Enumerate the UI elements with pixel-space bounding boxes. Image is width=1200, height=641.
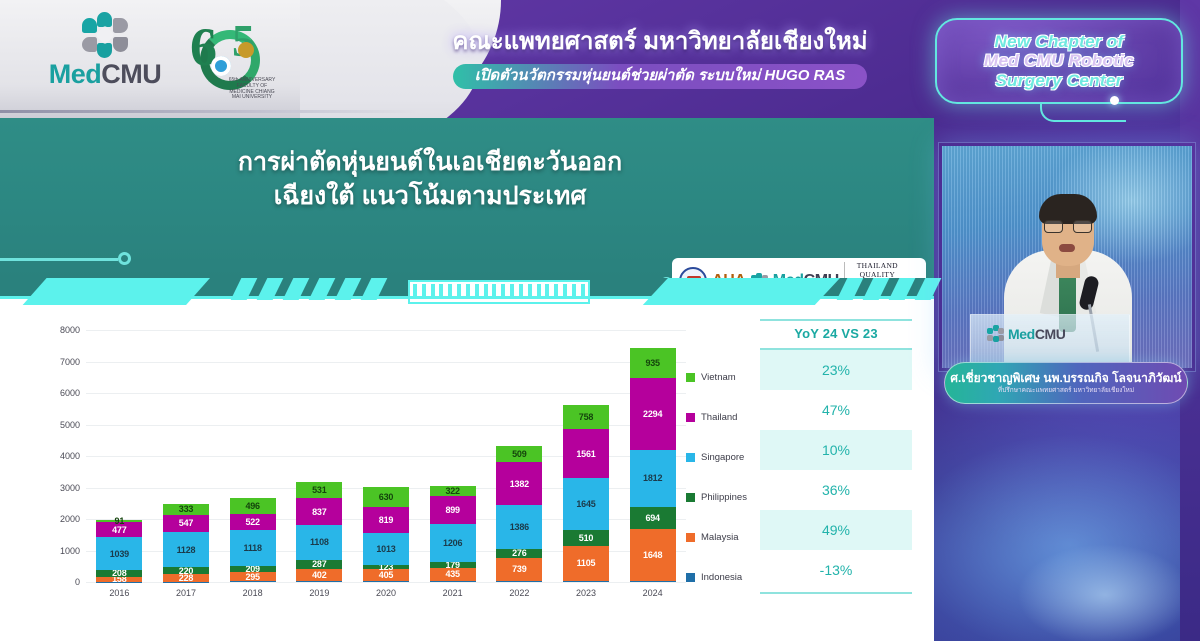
- chart-bar-2018: 2952091118522496: [230, 498, 276, 582]
- anniversary-caption: 65th ANNIVERSARY FACULTY OF MEDICINE CHI…: [226, 78, 278, 101]
- yoy-row-vietnam: 23%: [760, 350, 912, 390]
- bar-segment-vietnam: 496: [230, 498, 276, 514]
- x-axis-tick-label: 2018: [230, 588, 276, 598]
- medcmu-flower-icon: [82, 12, 128, 58]
- bar-segment-malaysia: 1105: [563, 546, 609, 581]
- x-axis-tick-label: 2021: [430, 588, 476, 598]
- legend-label: Indonesia: [701, 572, 742, 583]
- bar-segment-philippines: 208: [96, 570, 142, 577]
- x-axis-tick-label: 2017: [163, 588, 209, 598]
- bar-segment-malaysia: 402: [296, 569, 342, 582]
- bar-value-label: 1128: [177, 545, 196, 555]
- bar-value-label: 333: [179, 504, 193, 514]
- bar-segment-philippines: 510: [563, 530, 609, 546]
- bar-segment-malaysia: 739: [496, 558, 542, 581]
- bar-value-label: 477: [112, 525, 126, 535]
- bar-segment-philippines: 276: [496, 549, 542, 558]
- speaker-name: ศ.เชี่ยวชาญพิเศษ นพ.บรรณกิจ โลจนาภิวัฒน์: [950, 372, 1181, 385]
- podium-flower-icon: [987, 325, 1004, 342]
- bar-segment-singapore: 1206: [430, 524, 476, 562]
- bar-value-label: 1206: [443, 538, 462, 548]
- bar-segment-indonesia: [496, 581, 542, 582]
- x-axis-tick-label: 2020: [363, 588, 409, 598]
- yoy-row-thailand: 47%: [760, 390, 912, 430]
- bar-value-label: 1382: [510, 479, 529, 489]
- bar-segment-thailand: 837: [296, 498, 342, 524]
- chart-bar-2016: 158208103947791: [96, 520, 142, 582]
- bar-value-label: 837: [312, 507, 326, 517]
- legend-label: Thailand: [701, 412, 737, 423]
- y-axis-tick-label: 5000: [32, 420, 80, 430]
- x-axis-tick-label: 2019: [296, 588, 342, 598]
- bar-value-label: 510: [579, 533, 593, 543]
- bar-value-label: 1645: [576, 499, 595, 509]
- bar-segment-singapore: 1812: [630, 450, 676, 507]
- bar-segment-singapore: 1128: [163, 532, 209, 568]
- slide-stage: MedCMU 6 5 65th ANNIVERSARY FACULTY OF M…: [0, 0, 1200, 641]
- legend-label: Philippines: [701, 492, 747, 503]
- bar-segment-thailand: 819: [363, 507, 409, 533]
- bar-segment-philippines: 694: [630, 507, 676, 529]
- header-subtitle-pill: เปิดตัวนวัตกรรมหุ่นยนต์ช่วยผ่าตัด ระบบให…: [453, 64, 868, 89]
- bar-segment-thailand: 547: [163, 515, 209, 532]
- legend-item-indonesia[interactable]: Indonesia: [686, 557, 766, 597]
- badge-connector-dot-icon: [1110, 96, 1119, 105]
- badge-connector-line: [1040, 102, 1126, 122]
- bar-segment-philippines: 287: [296, 560, 342, 569]
- bar-value-label: 547: [179, 518, 193, 528]
- medcmu-word-cmu: CMU: [101, 59, 161, 89]
- bar-value-label: 496: [245, 501, 259, 511]
- strip-cyan-left: [20, 278, 210, 308]
- bar-value-label: 522: [245, 517, 259, 527]
- bar-value-label: 2294: [643, 409, 662, 419]
- slide-content: 0100020003000400050006000700080001582081…: [0, 305, 934, 641]
- y-axis-tick-label: 2000: [32, 514, 80, 524]
- bar-value-label: 322: [445, 486, 459, 496]
- bar-value-label: 276: [512, 548, 526, 558]
- header-divider: [0, 110, 420, 113]
- x-axis-tick-label: 2023: [563, 588, 609, 598]
- yoy-row-indonesia: -13%: [760, 550, 912, 590]
- yoy-row-singapore: 10%: [760, 430, 912, 470]
- bar-segment-vietnam: 333: [163, 504, 209, 514]
- x-axis-tick-label: 2016: [96, 588, 142, 598]
- header-title-main: คณะแพทยศาสตร์ มหาวิทยาลัยเชียงใหม่: [400, 28, 920, 56]
- bar-segment-philippines: 209: [230, 566, 276, 573]
- bar-segment-thailand: 2294: [630, 378, 676, 450]
- bar-segment-singapore: 1118: [230, 530, 276, 565]
- speaker-nameplate: ศ.เชี่ยวชาญพิเศษ นพ.บรรณกิจ โลจนาภิวัฒน์…: [944, 362, 1188, 404]
- yoy-row-malaysia: 49%: [760, 510, 912, 550]
- speaker-mouth: [1059, 244, 1075, 252]
- anniversary-flower-icon: [211, 56, 231, 76]
- section-title: การผ่าตัดหุ่นยนต์ในเอเชียตะวันออก เฉียงใ…: [190, 146, 670, 214]
- y-axis-tick-label: 3000: [32, 483, 80, 493]
- podium-word-cmu: CMU: [1035, 326, 1066, 342]
- bar-segment-indonesia: [563, 581, 609, 582]
- strip-cyan-right: [640, 278, 840, 308]
- chart-gridline: [86, 362, 686, 363]
- section-title-line1: การผ่าตัดหุ่นยนต์ในเอเชียตะวันออก: [190, 146, 670, 180]
- bar-segment-indonesia: [430, 581, 476, 582]
- bar-value-label: 287: [312, 559, 326, 569]
- chart-bar-2017: 2282201128547333: [163, 504, 209, 582]
- x-axis-tick-label: 2024: [630, 588, 676, 598]
- chart-legend: VietnamThailandSingaporePhilippinesMalay…: [686, 357, 766, 597]
- legend-item-philippines[interactable]: Philippines: [686, 477, 766, 517]
- chart-bar-2024: 164869418122294935: [630, 348, 676, 582]
- yoy-table: YoY 24 VS 23 23%47%10%36%49%-13%: [760, 319, 912, 594]
- y-axis-tick-label: 1000: [32, 546, 80, 556]
- bar-value-label: 694: [645, 513, 659, 523]
- y-axis-tick-label: 7000: [32, 357, 80, 367]
- bar-segment-thailand: 522: [230, 514, 276, 530]
- speaker-affiliation: ที่ปรึกษาคณะแพทยศาสตร์ มหาวิทยาลัยเชียงใ…: [998, 387, 1134, 395]
- bar-segment-vietnam: 630: [363, 487, 409, 507]
- chart-bar-2021: 4351791206899322: [430, 486, 476, 583]
- legend-swatch-icon: [686, 493, 695, 502]
- legend-item-malaysia[interactable]: Malaysia: [686, 517, 766, 557]
- legend-item-thailand[interactable]: Thailand: [686, 397, 766, 437]
- legend-label: Malaysia: [701, 532, 739, 543]
- legend-swatch-icon: [686, 453, 695, 462]
- y-axis-tick-label: 4000: [32, 451, 80, 461]
- legend-item-singapore[interactable]: Singapore: [686, 437, 766, 477]
- legend-label: Singapore: [701, 452, 744, 463]
- header-title-block: คณะแพทยศาสตร์ มหาวิทยาลัยเชียงใหม่ เปิดต…: [400, 28, 920, 89]
- legend-swatch-icon: [686, 373, 695, 382]
- bar-value-label: 1812: [643, 473, 662, 483]
- legend-swatch-icon: [686, 413, 695, 422]
- bar-value-label: 1648: [643, 550, 662, 560]
- stacked-bar-chart: 0100020003000400050006000700080001582081…: [20, 320, 690, 620]
- bar-value-label: 1386: [510, 522, 529, 532]
- bar-segment-vietnam: 531: [296, 482, 342, 499]
- chart-bar-2020: 4051231013819630: [363, 487, 409, 582]
- bar-value-label: 739: [512, 564, 526, 574]
- podium: MedCMU: [970, 314, 1130, 368]
- bar-segment-singapore: 1645: [563, 478, 609, 530]
- bar-segment-thailand: 1561: [563, 429, 609, 478]
- bar-value-label: 899: [445, 505, 459, 515]
- y-axis-tick-label: 0: [32, 577, 80, 587]
- chart-gridline: [86, 582, 686, 583]
- bar-segment-indonesia: [363, 581, 409, 582]
- legend-label: Vietnam: [701, 372, 736, 383]
- bar-segment-vietnam: 935: [630, 348, 676, 377]
- bar-segment-indonesia: [630, 581, 676, 582]
- bar-segment-thailand: 1382: [496, 462, 542, 506]
- bar-segment-vietnam: 509: [496, 446, 542, 462]
- y-axis-tick-label: 8000: [32, 325, 80, 335]
- x-axis-tick-label: 2022: [496, 588, 542, 598]
- medcmu-wordmark: MedCMU: [30, 61, 180, 88]
- badge-line-2: Med CMU Robotic: [984, 51, 1134, 70]
- bar-value-label: 819: [379, 515, 393, 525]
- bar-segment-philippines: 179: [430, 562, 476, 568]
- bar-segment-singapore: 1108: [296, 525, 342, 560]
- bar-value-label: 1105: [577, 558, 596, 568]
- chart-bar-2022: 73927613861382509: [496, 446, 542, 582]
- bar-value-label: 402: [312, 570, 326, 580]
- bar-value-label: 1039: [110, 549, 129, 559]
- bar-value-label: 435: [445, 569, 459, 579]
- legend-item-vietnam[interactable]: Vietnam: [686, 357, 766, 397]
- bar-value-label: 1013: [376, 544, 395, 554]
- page-header: MedCMU 6 5 65th ANNIVERSARY FACULTY OF M…: [0, 0, 1200, 118]
- medcmu-logo: MedCMU: [30, 12, 180, 100]
- chart-plot-area: 0100020003000400050006000700080001582081…: [86, 330, 686, 582]
- bar-segment-philippines: 220: [163, 567, 209, 574]
- y-axis-tick-label: 6000: [32, 388, 80, 398]
- bar-value-label: 91: [115, 516, 125, 526]
- anniversary-seal-icon: [238, 42, 254, 58]
- chip-decoration-icon: [408, 280, 590, 304]
- yoy-bottom-rule: [760, 592, 912, 594]
- chart-bar-2023: 110551016451561758: [563, 405, 609, 582]
- bar-segment-vietnam: 322: [430, 486, 476, 496]
- section-title-band: การผ่าตัดหุ่นยนต์ในเอเชียตะวันออก เฉียงใ…: [0, 118, 934, 278]
- medcmu-word-med: Med: [49, 59, 102, 89]
- bar-value-label: 935: [645, 358, 659, 368]
- bar-segment-vietnam: 91: [96, 520, 142, 523]
- bar-segment-singapore: 1386: [496, 505, 542, 549]
- bar-value-label: 1108: [310, 537, 329, 547]
- section-title-line2: เฉียงใต้ แนวโน้มตามประเทศ: [190, 180, 670, 214]
- header-subtitle: เปิดตัวนวัตกรรมหุ่นยนต์ช่วยผ่าตัด ระบบให…: [475, 67, 846, 85]
- legend-swatch-icon: [686, 533, 695, 542]
- bar-value-label: 1118: [244, 543, 262, 553]
- legend-swatch-icon: [686, 573, 695, 582]
- bar-value-label: 531: [312, 485, 326, 495]
- yoy-table-header: YoY 24 VS 23: [760, 321, 912, 350]
- new-chapter-badge-text: New Chapter of Med CMU Robotic Surgery C…: [937, 20, 1181, 102]
- bar-segment-malaysia: 1648: [630, 529, 676, 581]
- bar-segment-singapore: 1013: [363, 533, 409, 565]
- yoy-table-body: 23%47%10%36%49%-13%: [760, 350, 912, 590]
- strip-cyan-line: [0, 296, 934, 299]
- bar-segment-thailand: 899: [430, 496, 476, 524]
- badge-line-1: New Chapter of: [995, 32, 1124, 51]
- yoy-row-philippines: 36%: [760, 470, 912, 510]
- bar-segment-indonesia: [296, 581, 342, 582]
- podium-logo: MedCMU: [987, 325, 1066, 342]
- chart-gridline: [86, 330, 686, 331]
- bar-value-label: 630: [379, 492, 393, 502]
- bar-segment-philippines: 123: [363, 565, 409, 569]
- podium-wordmark: MedCMU: [1008, 326, 1066, 342]
- bar-value-label: 758: [579, 412, 593, 422]
- new-chapter-badge: New Chapter of Med CMU Robotic Surgery C…: [935, 18, 1183, 104]
- bar-segment-singapore: 1039: [96, 537, 142, 570]
- podium-word-med: Med: [1008, 326, 1035, 342]
- speaker-glasses-icon: [1044, 220, 1092, 233]
- speaker-video-panel: MedCMU: [942, 146, 1192, 368]
- chart-bar-2019: 4022871108837531: [296, 482, 342, 582]
- badge-line-3: Surgery Center: [995, 71, 1122, 90]
- bar-segment-vietnam: 758: [563, 405, 609, 429]
- bar-value-label: 509: [512, 449, 526, 459]
- anniversary-65-logo: 6 5 65th ANNIVERSARY FACULTY OF MEDICINE…: [186, 16, 278, 100]
- bar-value-label: 1561: [576, 449, 595, 459]
- background-glow-spot: [1010, 540, 1200, 641]
- chart-gridline: [86, 393, 686, 394]
